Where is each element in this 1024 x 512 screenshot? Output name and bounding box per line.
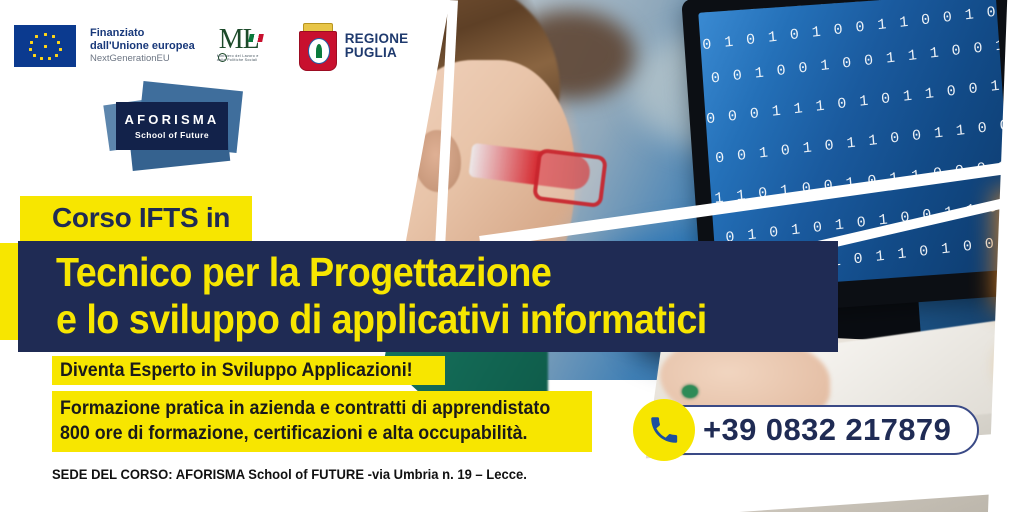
regione-puglia-logo: REGIONE PUGLIA (297, 23, 409, 69)
green-ring (682, 385, 698, 398)
course-eyebrow: Corso IFTS in (52, 202, 230, 233)
course-venue: SEDE DEL CORSO: AFORISMA School of FUTUR… (52, 466, 527, 482)
regione-line2: PUGLIA (345, 46, 409, 60)
regione-puglia-crest-icon (297, 23, 337, 69)
ministry-of-labour-logo: ML Ministero del Lavoro e delle Politich… (217, 24, 269, 68)
italian-tricolor-icon (248, 34, 264, 42)
course-title-line2: e lo sviluppo di applicativi informatici (56, 296, 707, 343)
eu-flag-icon (14, 25, 76, 67)
regione-line1: REGIONE (345, 32, 409, 46)
eu-funding-line3: NextGenerationEU (90, 54, 195, 65)
course-venue-line: SEDE DEL CORSO: AFORISMA School of FUTUR… (52, 466, 563, 484)
course-title-line1: Tecnico per la Progettazione (56, 249, 707, 296)
course-promo-banner: 0 1 0 1 0 1 0 0 1 1 0 0 1 0 1 0 0 1 1 1 … (0, 0, 1024, 512)
eu-funding-line1: Finanziato (90, 27, 195, 39)
aforisma-logo: AFORISMA School of Future (100, 80, 242, 170)
ministry-caption: Ministero del Lavoro e delle Politiche S… (217, 54, 269, 63)
course-detail-line1: Formazione pratica in azienda e contratt… (60, 396, 550, 421)
funding-logo-strip: Finanziato dall'Unione europea NextGener… (0, 0, 340, 175)
course-details-band: Formazione pratica in azienda e contratt… (52, 391, 592, 452)
red-eyeglasses-lens (532, 148, 608, 208)
eu-funding-text: Finanziato dall'Unione europea NextGener… (90, 27, 195, 64)
course-claim: Diventa Esperto in Sviluppo Applicazioni… (60, 360, 413, 382)
aforisma-tagline: School of Future (135, 130, 209, 140)
regione-puglia-text: REGIONE PUGLIA (345, 32, 409, 60)
course-eyebrow-band: Corso IFTS in (20, 196, 252, 241)
aforisma-name: AFORISMA (125, 112, 220, 127)
course-title-box: Tecnico per la Progettazione e lo svilup… (18, 241, 838, 352)
eu-funding-line2: dall'Unione europea (90, 40, 195, 52)
aforisma-wordmark: AFORISMA School of Future (116, 102, 228, 150)
course-detail-line2: 800 ore di formazione, certificazioni e … (60, 421, 550, 446)
phone-handset-icon[interactable] (633, 399, 695, 461)
phone-number[interactable]: +39 0832 217879 (703, 412, 951, 448)
course-claim-band: Diventa Esperto in Sviluppo Applicazioni… (52, 356, 445, 385)
